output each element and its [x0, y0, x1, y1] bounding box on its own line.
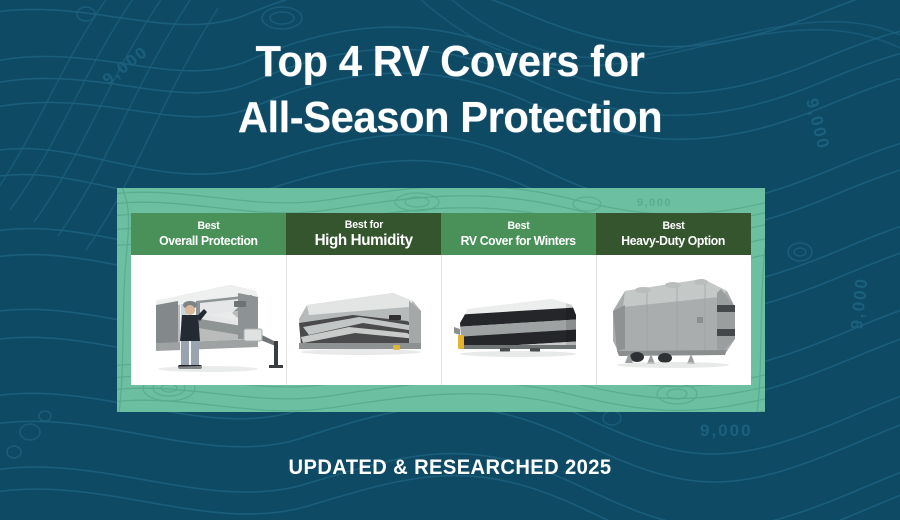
card-header-4-eyebrow: Best	[662, 220, 684, 233]
card-header-3-eyebrow: Best	[507, 220, 529, 233]
card-header-2-title: High Humidity	[314, 232, 412, 249]
card-header-1-eyebrow: Best	[197, 220, 219, 233]
card-header-1: Best Overall Protection	[131, 213, 286, 255]
rv-cover-swoosh-photo	[289, 257, 439, 383]
card-image-3	[441, 255, 596, 385]
cards-frame: 9,000 Best Overall Protection	[117, 188, 765, 412]
card-image-2	[286, 255, 441, 385]
card-rv-cover-for-winters[interactable]: Best RV Cover for Winters	[441, 213, 596, 385]
elevation-label: 9,000	[637, 197, 672, 209]
card-high-humidity[interactable]: Best for High Humidity	[286, 213, 441, 385]
card-header-4: Best Heavy-Duty Option	[596, 213, 751, 255]
card-header-3: Best RV Cover for Winters	[441, 213, 596, 255]
title-line-2: All-Season Protection	[23, 90, 878, 146]
card-heavy-duty-option[interactable]: Best Heavy-Duty Option	[596, 213, 751, 385]
card-image-1	[131, 255, 286, 385]
title-line-1: Top 4 RV Covers for	[23, 34, 878, 90]
card-overall-protection[interactable]: Best Overall Protection	[131, 213, 286, 385]
card-header-2-eyebrow: Best for	[344, 219, 382, 232]
rv-cover-grey-toyhauler-photo	[599, 257, 749, 383]
page-title: Top 4 RV Covers for All-Season Protectio…	[0, 34, 900, 146]
card-image-4	[596, 255, 751, 385]
updated-researched-note: UPDATED & RESEARCHED 2025	[18, 456, 882, 480]
card-header-4-title: Heavy-Duty Option	[622, 233, 726, 248]
rv-covers-infographic: 9,000 9,000 9,000 9,000 Top 4 RV Covers …	[0, 0, 900, 520]
cards-panel: Best Overall Protection	[131, 213, 751, 385]
rv-cover-striped-photo	[444, 257, 594, 383]
elevation-label: 9,000	[847, 276, 871, 330]
card-header-1-title: Overall Protection	[159, 233, 257, 248]
card-header-2: Best for High Humidity	[286, 213, 441, 255]
card-header-3-title: RV Cover for Winters	[461, 233, 576, 248]
rv-cover-with-person-photo	[134, 257, 284, 383]
elevation-label: 9,000	[700, 421, 753, 440]
